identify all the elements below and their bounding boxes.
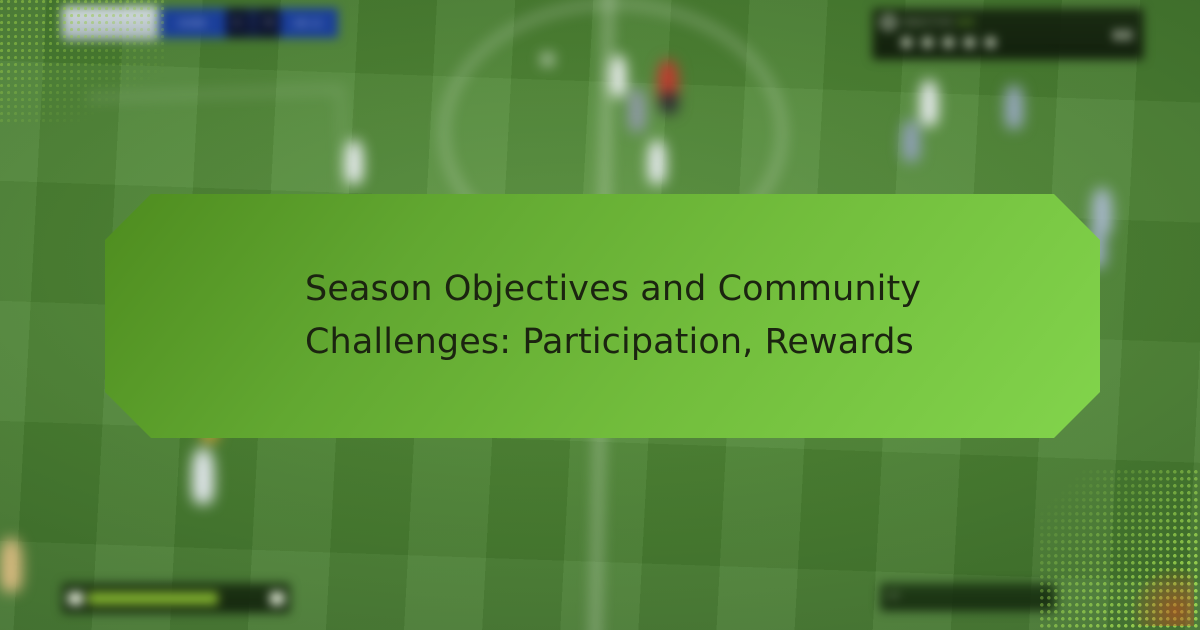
objective-dot bbox=[901, 37, 912, 48]
objective-label: OBJECTIVE 3/5 bbox=[902, 18, 974, 27]
scorebug-home-score: 1 bbox=[226, 8, 248, 38]
screenshot-canvas: HOME 1 - 0 68:12 OBJECTIVE 3/5 60 bbox=[0, 0, 1200, 630]
objective-label-highlight: 3/5 bbox=[957, 18, 974, 27]
objective-ring-icon bbox=[881, 15, 896, 30]
objective-dot bbox=[964, 37, 975, 48]
xp-panel: XP bbox=[880, 583, 1056, 611]
dot-grid-top-left bbox=[0, 0, 168, 126]
objective-dot bbox=[943, 37, 954, 48]
scorebug-home-team: HOME bbox=[160, 8, 226, 38]
title-banner: Season Objectives and Community Challeng… bbox=[105, 194, 1100, 438]
match-progress-panel bbox=[62, 583, 290, 613]
scorebug-clock: 68:12 bbox=[280, 8, 338, 38]
objective-label-prefix: OBJECTIVE bbox=[902, 18, 954, 27]
page-title-line-2: Challenges: Participation, Rewards bbox=[305, 316, 921, 369]
scorebug: HOME 1 - 0 68:12 bbox=[160, 8, 338, 38]
progress-chip-icon bbox=[270, 592, 284, 605]
xp-label: XP bbox=[887, 592, 901, 602]
objective-panel: OBJECTIVE 3/5 60 bbox=[872, 8, 1144, 60]
page-title-line-1: Season Objectives and Community bbox=[305, 263, 921, 316]
accent-glow-bottom-right bbox=[1132, 566, 1194, 626]
progress-bar bbox=[88, 592, 218, 605]
page-title: Season Objectives and Community Challeng… bbox=[105, 263, 1041, 369]
objective-dot bbox=[985, 37, 996, 48]
scorebug-separator: - bbox=[248, 8, 258, 38]
objective-progress-dots bbox=[901, 37, 1135, 48]
objective-header: OBJECTIVE 3/5 bbox=[881, 15, 1135, 30]
objective-counter: 60 bbox=[1113, 29, 1133, 44]
progress-icon bbox=[68, 592, 83, 605]
scorebug-away-score: 0 bbox=[258, 8, 280, 38]
objective-dot bbox=[922, 37, 933, 48]
